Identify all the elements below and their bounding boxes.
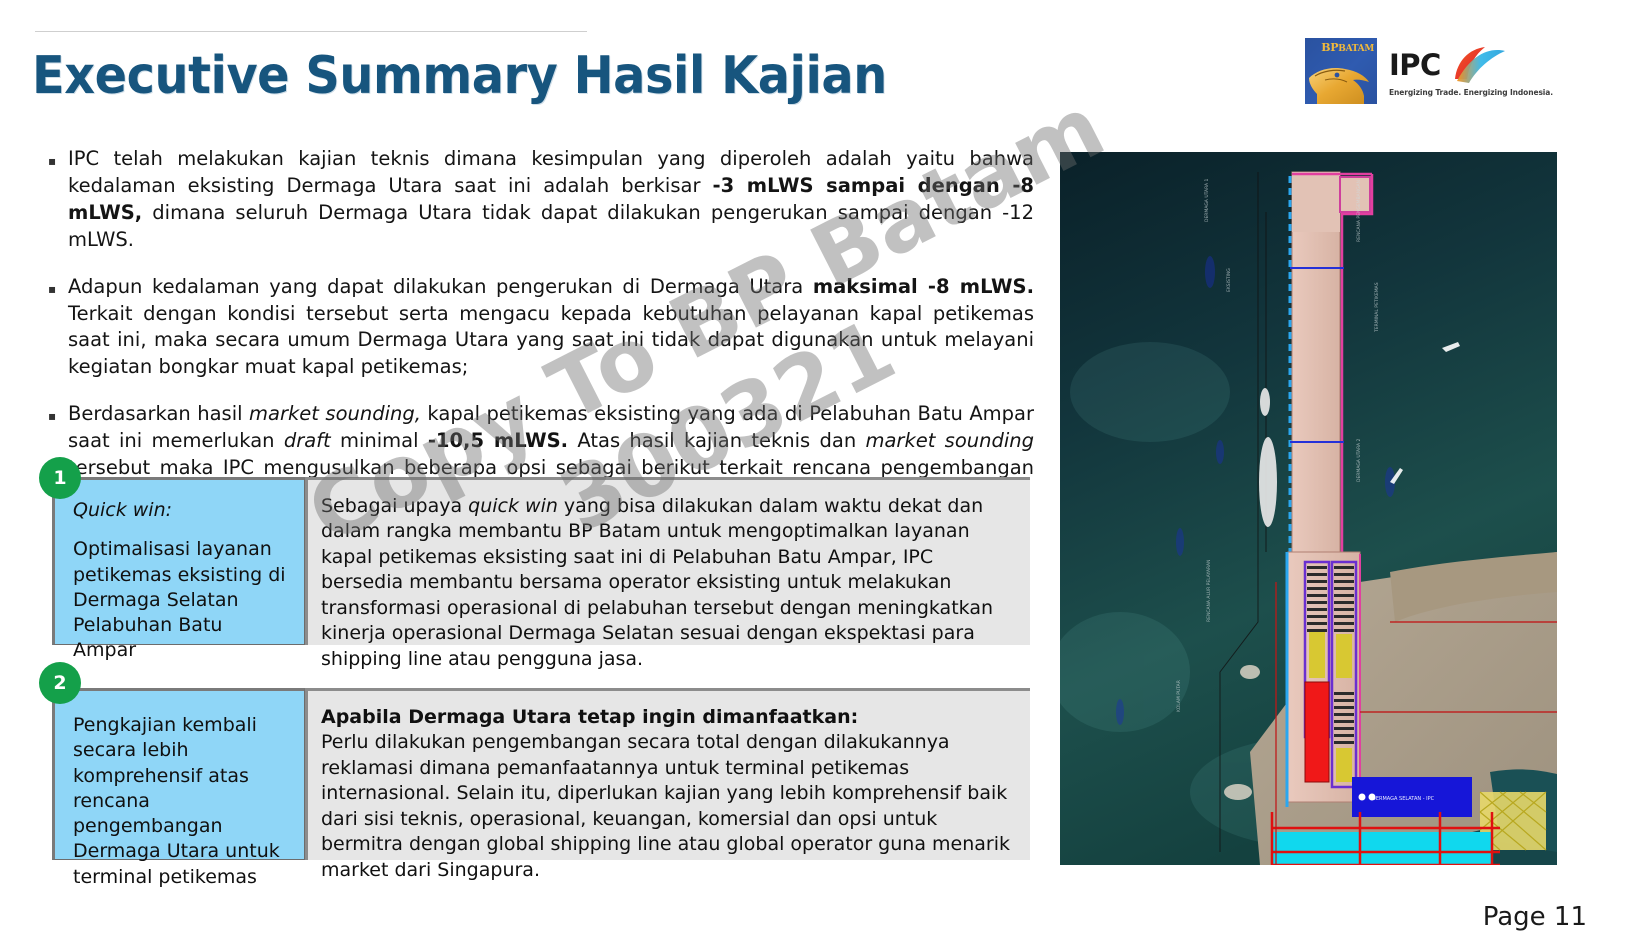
svg-text:TERMINAL PETIKEMAS: TERMINAL PETIKEMAS [1374,282,1380,333]
port-satellite-image: DERMAGA UTARA 1 EKSISTING RENCANA PENGEM… [1060,152,1557,865]
bullet-text: Adapun kedalaman yang dapat dilakukan pe… [68,274,1034,382]
bpbatam-logo-text: BPBATAM [1321,41,1374,54]
svg-text:RENCANA ALUR PELAYARAN: RENCANA ALUR PELAYARAN [1206,560,1212,622]
ipc-swoosh-icon [1445,45,1507,85]
summary-bullet-list: ▪ IPC telah melakukan kajian teknis dima… [48,146,1034,529]
port-layout-illustration: DERMAGA UTARA 1 EKSISTING RENCANA PENGEM… [1060,152,1557,865]
svg-text:RENCANA PENGEMBANGAN: RENCANA PENGEMBANGAN [1356,180,1362,242]
option-row-1: Quick win: Optimalisasi layanan petikema… [52,477,1030,645]
option-1-title-box: Quick win: Optimalisasi layanan petikema… [52,477,305,645]
option-1-description-box: Sebagai upaya quick win yang bisa dilaku… [305,477,1030,645]
page-title: Executive Summary Hasil Kajian [32,46,887,106]
bullet-marker-icon: ▪ [48,146,68,167]
ipc-logo: IPC Energizing Trad [1389,45,1553,97]
option-2-description-box: Apabila Dermaga Utara tetap ingin dimanf… [305,688,1030,860]
ipc-tagline: Energizing Trade. Energizing Indonesia. [1389,88,1553,97]
bullet-marker-icon: ▪ [48,401,68,422]
option-2-title: Pengkajian kembali secara lebih komprehe… [73,714,280,888]
header-divider [35,31,587,32]
logo-bar: BPBATAM IPC [1305,38,1553,104]
svg-text:DERMAGA UTARA 1: DERMAGA UTARA 1 [1204,178,1210,222]
svg-text:DERMAGA SELATAN - IPC: DERMAGA SELATAN - IPC [1372,796,1435,802]
option-1-title: Optimalisasi layanan petikemas eksisting… [73,538,286,661]
bpbatam-logo: BPBATAM [1305,38,1377,104]
bullet-text: IPC telah melakukan kajian teknis dimana… [68,146,1034,254]
option-2-title-box: Pengkajian kembali secara lebih komprehe… [52,688,305,860]
bullet-item: ▪ IPC telah melakukan kajian teknis dima… [48,146,1034,254]
dragon-icon [1307,56,1377,104]
svg-text:EKSISTING: EKSISTING [1226,268,1232,292]
bullet-item: ▪ Adapun kedalaman yang dapat dilakukan … [48,274,1034,382]
ipc-logo-word: IPC [1389,51,1441,80]
option-1-kicker: Quick win: [73,498,290,523]
page-number: Page 11 [1483,902,1587,932]
svg-text:DERMAGA UTARA 2: DERMAGA UTARA 2 [1356,438,1362,482]
option-2-number-badge: 2 [39,662,81,704]
option-1-number-badge: 1 [39,457,81,499]
svg-text:KOLAM PUTAR: KOLAM PUTAR [1176,680,1182,712]
bullet-marker-icon: ▪ [48,274,68,295]
option-row-2: Pengkajian kembali secara lebih komprehe… [52,688,1030,860]
